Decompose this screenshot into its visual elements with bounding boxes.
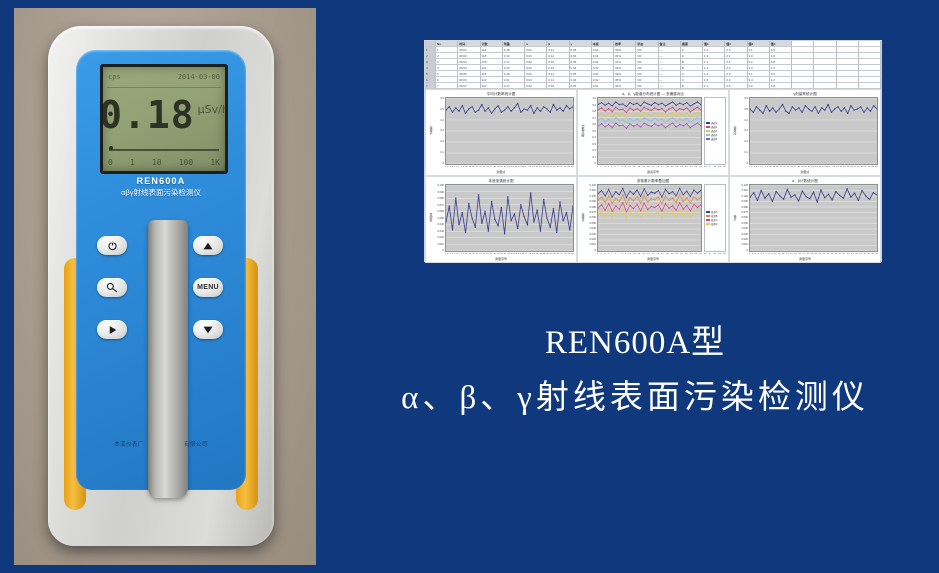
- plot-area: [749, 184, 878, 252]
- data-point: [615, 101, 616, 102]
- data-point: [626, 211, 627, 212]
- y-axis-label: 计数率: [428, 97, 434, 165]
- data-point: [601, 107, 602, 108]
- y-tick: 0.100: [738, 195, 748, 198]
- data-point: [629, 205, 630, 206]
- data-point: [686, 107, 687, 108]
- data-point: [612, 122, 613, 123]
- legend-item: 核素C: [706, 219, 724, 222]
- lcd-screen: cps 2014-03-06 0.18 μSv/h 01101001K: [100, 64, 228, 174]
- data-point: [861, 190, 862, 191]
- y-tick: 0.1: [738, 151, 748, 154]
- series-line: [598, 203, 701, 212]
- y-tick: 0.3: [586, 143, 596, 146]
- data-point: [801, 112, 802, 113]
- down-button[interactable]: [193, 320, 223, 339]
- legend-label: 通道2: [711, 126, 717, 129]
- data-point: [665, 189, 666, 190]
- data-point: [530, 105, 531, 106]
- data-point: [605, 105, 606, 106]
- data-point: [449, 106, 450, 107]
- legend-swatch: [706, 211, 710, 214]
- data-point: [690, 105, 691, 106]
- data-point: [601, 204, 602, 205]
- chart-panel-1[interactable]: α、β、γ能谱分布统计图 — 多通道对比相对强度1.00.90.80.70.60…: [577, 89, 729, 176]
- legend-item: 核素A: [706, 211, 724, 214]
- caption-line-2: α、β、γ射线表面污染检测仪: [340, 372, 930, 424]
- data-point: [654, 123, 655, 124]
- chart-svg: [750, 185, 877, 251]
- data-point: [828, 194, 829, 195]
- data-point: [779, 108, 780, 109]
- y-tick: 0.080: [738, 206, 748, 209]
- data-point: [788, 113, 789, 114]
- data-point: [629, 211, 630, 212]
- data-point: [647, 124, 648, 125]
- data-point: [665, 210, 666, 211]
- y-tick: 0.090: [738, 200, 748, 203]
- data-point: [536, 209, 537, 210]
- maker-right: 有限公司: [184, 440, 208, 448]
- y-axis-ticks: 1.00.90.80.70.60.50.40.30.20.10: [586, 97, 597, 165]
- data-point: [672, 122, 673, 123]
- chart-panel-0[interactable]: 平均计数率统计图计数率0.60.50.40.30.20.101234567891…: [425, 89, 577, 176]
- triangle-down-icon: [202, 325, 214, 335]
- data-point: [873, 192, 874, 193]
- data-point: [619, 194, 620, 195]
- data-point: [867, 107, 868, 108]
- lcd-scale-tick-0: 0: [108, 158, 113, 167]
- data-point: [494, 219, 495, 220]
- chart-svg: [750, 98, 877, 164]
- data-point: [683, 194, 684, 195]
- lcd-reading: 0.18 μSv/h: [103, 89, 225, 141]
- data-point: [690, 122, 691, 123]
- data-point: [783, 199, 784, 200]
- data-point: [817, 201, 818, 202]
- data-point: [690, 217, 691, 218]
- data-point: [679, 103, 680, 104]
- data-point: [633, 110, 634, 111]
- data-point: [846, 188, 847, 189]
- y-tick: 0.080: [586, 206, 596, 209]
- data-point: [665, 105, 666, 106]
- y-tick: 0.4: [586, 136, 596, 139]
- lcd-divider: [107, 87, 221, 88]
- y-tick: 0.020: [586, 238, 596, 241]
- data-point: [854, 193, 855, 194]
- legend-item: 通道1: [706, 122, 724, 125]
- data-point: [831, 112, 832, 113]
- chart-svg: [446, 98, 573, 164]
- menu-button-label: MENU: [197, 284, 219, 291]
- maker-left: 本溪仪表厂: [114, 440, 144, 448]
- data-point: [809, 198, 810, 199]
- data-point: [661, 196, 662, 197]
- lcd-scale-tick-3: 100: [179, 158, 193, 167]
- data-point: [654, 112, 655, 113]
- y-tick: 0.5: [738, 108, 748, 111]
- data-point: [640, 217, 641, 218]
- data-point: [779, 195, 780, 196]
- data-point: [821, 107, 822, 108]
- data-point: [644, 209, 645, 210]
- data-point: [693, 103, 694, 104]
- data-point: [501, 112, 502, 113]
- data-point: [622, 103, 623, 104]
- data-point: [676, 110, 677, 111]
- y-tick: 0.040: [586, 227, 596, 230]
- data-point: [633, 215, 634, 216]
- data-point: [637, 204, 638, 205]
- y-axis-label: 计数率: [580, 184, 586, 252]
- data-point: [814, 106, 815, 107]
- device-handle: [148, 220, 188, 498]
- y-tick: 0.4: [434, 119, 444, 122]
- data-point: [690, 210, 691, 211]
- data-point: [550, 112, 551, 113]
- data-point: [612, 116, 613, 117]
- data-point: [637, 124, 638, 125]
- legend-item: 通道2: [706, 126, 724, 129]
- chart-svg: [446, 185, 573, 251]
- data-point: [640, 121, 641, 122]
- data-point: [622, 188, 623, 189]
- data-point: [697, 101, 698, 102]
- faceplate-model: REN600A: [76, 176, 246, 186]
- data-point: [644, 101, 645, 102]
- data-point: [550, 227, 551, 228]
- data-point: [651, 120, 652, 121]
- data-point: [622, 124, 623, 125]
- data-point: [835, 191, 836, 192]
- data-point: [640, 202, 641, 203]
- data-point: [640, 196, 641, 197]
- chart-panel-3[interactable]: 本底涨落统计图本底值0.1000.0900.0800.0700.0600.050…: [425, 176, 577, 263]
- data-point: [619, 114, 620, 115]
- y-tick: 0.2: [586, 149, 596, 152]
- data-point: [697, 193, 698, 194]
- device-faceplate: cps 2014-03-06 0.18 μSv/h 01101001K REN6…: [76, 50, 246, 490]
- data-point: [619, 215, 620, 216]
- data-point: [615, 205, 616, 206]
- data-point: [647, 201, 648, 202]
- lcd-status-bar: cps 2014-03-06: [108, 70, 220, 84]
- data-point: [612, 111, 613, 112]
- y-tick: 0.030: [738, 233, 748, 236]
- data-point: [661, 203, 662, 204]
- legend-item: 核素B: [706, 215, 724, 218]
- series-line: [598, 188, 701, 197]
- data-point: [654, 107, 655, 108]
- data-point: [697, 112, 698, 113]
- data-point: [640, 110, 641, 111]
- data-point: [629, 112, 630, 113]
- data-point: [481, 104, 482, 105]
- y-axis-ticks: 0.60.50.40.30.20.10: [434, 97, 445, 165]
- y-tick: 0.070: [434, 204, 444, 207]
- data-point: [690, 202, 691, 203]
- data-point: [683, 125, 684, 126]
- legend-label: 核素C: [711, 219, 718, 222]
- data-point: [626, 128, 627, 129]
- data-point: [468, 108, 469, 109]
- data-point: [782, 104, 783, 105]
- plot-area: [597, 97, 702, 165]
- data-point: [661, 217, 662, 218]
- data-point: [818, 113, 819, 114]
- data-point: [839, 195, 840, 196]
- y-tick: 0.050: [434, 217, 444, 220]
- data-point: [661, 103, 662, 104]
- y-tick: 0: [434, 249, 444, 252]
- data-point: [665, 116, 666, 117]
- data-point: [612, 217, 613, 218]
- data-point: [808, 108, 809, 109]
- data-point: [540, 110, 541, 111]
- data-point: [462, 212, 463, 213]
- data-point: [672, 107, 673, 108]
- data-point: [654, 102, 655, 103]
- data-point: [761, 190, 762, 191]
- data-point: [644, 112, 645, 113]
- legend-swatch: [706, 134, 710, 137]
- legend-label: 核素B: [711, 215, 717, 218]
- legend-item: 通道4: [706, 134, 724, 137]
- data-point: [672, 117, 673, 118]
- data-point: [446, 221, 447, 222]
- y-tick: 0.010: [586, 243, 596, 246]
- data-point: [795, 109, 796, 110]
- y-tick: 0.010: [738, 243, 748, 246]
- data-point: [605, 116, 606, 117]
- y-tick: 0.090: [434, 191, 444, 194]
- data-point: [605, 202, 606, 203]
- data-point: [566, 105, 567, 106]
- y-axis-ticks: 0.1000.0900.0800.0700.0600.0500.0400.030…: [434, 184, 445, 252]
- series-line: [598, 123, 701, 128]
- data-point: [458, 110, 459, 111]
- data-point: [644, 195, 645, 196]
- data-point: [455, 197, 456, 198]
- data-point: [619, 201, 620, 202]
- lcd-bargraph-marker: [109, 146, 113, 150]
- data-point: [566, 212, 567, 213]
- plot-area: [445, 184, 574, 252]
- y-tick: 0.010: [434, 243, 444, 246]
- data-point: [672, 205, 673, 206]
- y-tick: 0.020: [434, 236, 444, 239]
- y-tick: 0.5: [434, 108, 444, 111]
- data-point: [608, 189, 609, 190]
- data-point: [661, 124, 662, 125]
- y-tick: 0.110: [738, 189, 748, 192]
- data-point: [608, 195, 609, 196]
- y-tick: 0.6: [434, 97, 444, 100]
- y-axis-ticks: 0.1200.1100.1000.0900.0800.0700.0600.050…: [586, 184, 597, 252]
- data-point: [629, 107, 630, 108]
- data-point: [683, 208, 684, 209]
- data-point: [697, 213, 698, 214]
- power-icon: [107, 240, 118, 251]
- y-tick: 0.4: [738, 119, 748, 122]
- data-point: [686, 112, 687, 113]
- data-point: [668, 114, 669, 115]
- data-point: [605, 121, 606, 122]
- data-point: [637, 113, 638, 114]
- data-point: [805, 105, 806, 106]
- data-point: [857, 108, 858, 109]
- data-point: [619, 120, 620, 121]
- data-point: [629, 190, 630, 191]
- data-point: [637, 118, 638, 119]
- data-point: [605, 126, 606, 127]
- data-point: [605, 195, 606, 196]
- y-tick: 0.060: [434, 210, 444, 213]
- y-tick: 0: [738, 249, 748, 252]
- data-point: [608, 210, 609, 211]
- data-point: [647, 119, 648, 120]
- lcd-scale-tick-4: 1K: [210, 158, 220, 167]
- data-point: [619, 104, 620, 105]
- chart-panel-4[interactable]: 多核素计数率叠加图计数率0.1200.1100.1000.0900.0800.0…: [577, 176, 729, 263]
- data-point: [865, 195, 866, 196]
- data-point: [693, 119, 694, 120]
- data-point: [693, 189, 694, 190]
- data-point: [504, 109, 505, 110]
- data-point: [693, 114, 694, 115]
- data-point: [766, 105, 767, 106]
- data-point: [622, 119, 623, 120]
- lcd-scale-tick-1: 1: [130, 158, 135, 167]
- data-point: [640, 210, 641, 211]
- chart-body: 剂量率0.60.50.40.30.20.10: [732, 97, 878, 165]
- faceplate-subtitle: αβγ射线表面污染检测仪: [76, 187, 246, 198]
- data-point: [633, 208, 634, 209]
- data-point: [637, 210, 638, 211]
- data-point: [686, 190, 687, 191]
- data-point: [572, 205, 573, 206]
- power-button[interactable]: [97, 236, 127, 255]
- data-point: [517, 228, 518, 229]
- data-point: [794, 194, 795, 195]
- data-point: [533, 221, 534, 222]
- data-point: [840, 110, 841, 111]
- legend-label: 核素A: [711, 211, 717, 214]
- data-point: [626, 204, 627, 205]
- data-point: [510, 110, 511, 111]
- y-tick: 0.030: [586, 233, 596, 236]
- y-tick: 0: [738, 162, 748, 165]
- data-point: [686, 197, 687, 198]
- y-tick: 0.060: [738, 216, 748, 219]
- data-point: [504, 233, 505, 234]
- data-point: [693, 124, 694, 125]
- device-photo: cps 2014-03-06 0.18 μSv/h 01101001K REN6…: [14, 8, 316, 565]
- data-point: [651, 212, 652, 213]
- data-point: [612, 196, 613, 197]
- data-point: [633, 104, 634, 105]
- data-point: [633, 115, 634, 116]
- data-point: [658, 104, 659, 105]
- data-point: [647, 209, 648, 210]
- y-tick: 0.050: [738, 222, 748, 225]
- data-point: [668, 108, 669, 109]
- data-point: [507, 106, 508, 107]
- data-point: [686, 118, 687, 119]
- data-point: [860, 106, 861, 107]
- data-point: [676, 126, 677, 127]
- chart-panel-5[interactable]: α、β计数统计图计数0.1200.1100.1000.0900.0800.070…: [729, 176, 881, 263]
- data-point: [520, 204, 521, 205]
- data-point: [686, 211, 687, 212]
- data-point: [497, 105, 498, 106]
- menu-button[interactable]: MENU: [193, 278, 223, 297]
- chart-body: 计数率0.60.50.40.30.20.10: [428, 97, 574, 165]
- data-point: [654, 118, 655, 119]
- data-point: [559, 201, 560, 202]
- data-point: [644, 122, 645, 123]
- data-point: [772, 107, 773, 108]
- up-button[interactable]: [193, 236, 223, 255]
- y-tick: 0.120: [586, 184, 596, 187]
- data-point: [683, 104, 684, 105]
- data-point: [640, 116, 641, 117]
- series-line: [598, 113, 701, 118]
- search-button[interactable]: [97, 278, 127, 297]
- data-point: [690, 111, 691, 112]
- legend-item: 通道3: [706, 130, 724, 133]
- data-point: [790, 196, 791, 197]
- data-point: [546, 108, 547, 109]
- triangle-up-icon: [202, 241, 214, 251]
- data-point: [654, 207, 655, 208]
- y-tick: 0.060: [586, 216, 596, 219]
- data-point: [615, 212, 616, 213]
- data-point: [658, 190, 659, 191]
- data-point: [615, 197, 616, 198]
- data-point: [798, 107, 799, 108]
- chart-body: 计数率0.1200.1100.1000.0900.0800.0700.0600.…: [580, 184, 726, 252]
- data-point: [468, 203, 469, 204]
- slide-canvas: cps 2014-03-06 0.18 μSv/h 01101001K REN6…: [0, 0, 939, 573]
- data-point: [869, 199, 870, 200]
- data-point: [633, 126, 634, 127]
- data-point: [640, 126, 641, 127]
- data-point: [672, 212, 673, 213]
- plot-area: [445, 97, 574, 165]
- data-point: [640, 105, 641, 106]
- data-point: [605, 210, 606, 211]
- data-point: [831, 199, 832, 200]
- data-point: [651, 115, 652, 116]
- data-point: [651, 105, 652, 106]
- data-point: [637, 189, 638, 190]
- data-point: [753, 192, 754, 193]
- data-point: [612, 127, 613, 128]
- data-point: [527, 224, 528, 225]
- data-point: [679, 113, 680, 114]
- data-point: [491, 201, 492, 202]
- play-button[interactable]: [97, 320, 127, 339]
- data-point: [661, 108, 662, 109]
- caption-block: REN600A型 α、β、γ射线表面污染检测仪: [340, 320, 930, 424]
- data-point: [449, 205, 450, 206]
- series-line: [598, 209, 701, 218]
- faceplate-label: REN600A αβγ射线表面污染检测仪: [76, 176, 246, 198]
- data-point: [523, 108, 524, 109]
- chart-panel-2[interactable]: γ剂量率统计图剂量率0.60.50.40.30.20.1012345678910…: [729, 89, 881, 176]
